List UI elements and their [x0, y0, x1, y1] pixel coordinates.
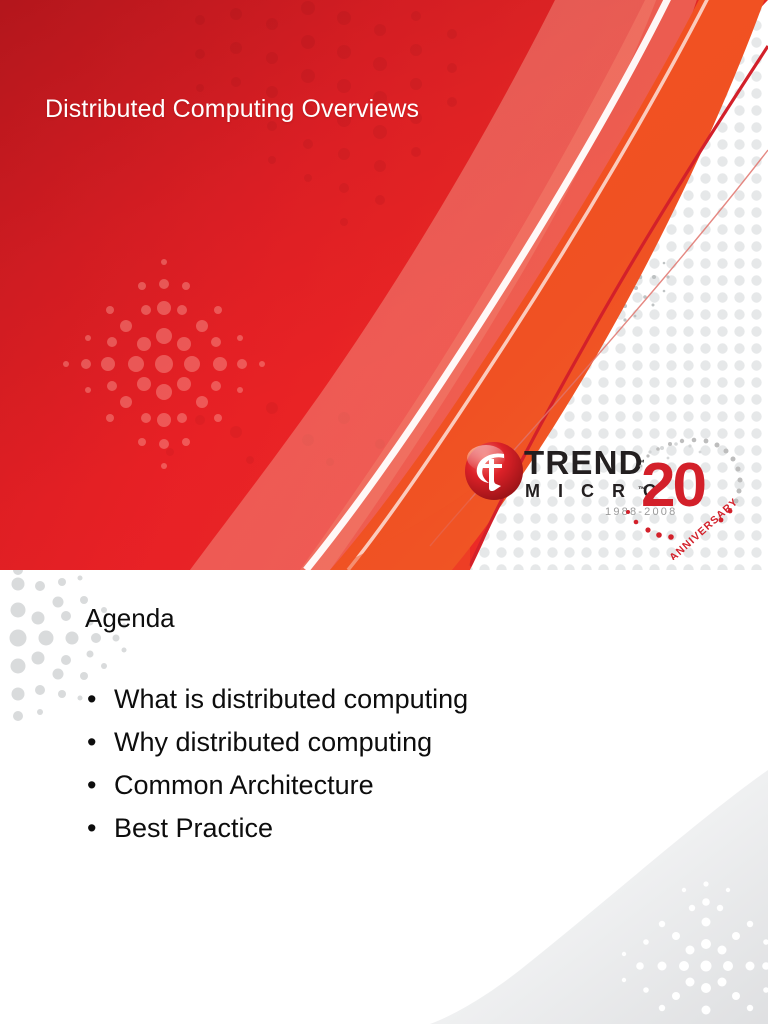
bullet-icon: •	[87, 678, 96, 721]
list-item-label: Best Practice	[114, 813, 273, 843]
anniversary-number: 20	[641, 451, 704, 520]
bullet-icon: •	[87, 807, 96, 850]
slide-body: Agenda • What is distributed computing •…	[0, 570, 768, 1024]
brand-name-primary: TREND	[524, 444, 644, 481]
brand-logo-graphic: TREND ™ M I C R O ™ 1988-2008	[458, 432, 748, 560]
list-item[interactable]: • Common Architecture	[85, 764, 685, 807]
header-banner: Distributed Computing Overviews	[0, 0, 768, 570]
list-item[interactable]: • What is distributed computing	[85, 678, 685, 721]
page-title: Distributed Computing Overviews	[45, 92, 665, 126]
list-item-label: Why distributed computing	[114, 727, 432, 757]
bullet-icon: •	[87, 721, 96, 764]
brand-logo: TREND ™ M I C R O ™ 1988-2008	[458, 432, 748, 560]
presentation-slide: Distributed Computing Overviews	[0, 0, 768, 1024]
list-item-label: What is distributed computing	[114, 684, 468, 714]
list-item[interactable]: • Why distributed computing	[85, 721, 685, 764]
agenda-list: • What is distributed computing • Why di…	[85, 678, 685, 850]
agenda-panel: Agenda • What is distributed computing •…	[85, 602, 685, 850]
agenda-heading: Agenda	[85, 602, 685, 634]
list-item[interactable]: • Best Practice	[85, 807, 685, 850]
trend-micro-ball-icon	[465, 442, 523, 500]
list-item-label: Common Architecture	[114, 770, 374, 800]
bullet-icon: •	[87, 764, 96, 807]
